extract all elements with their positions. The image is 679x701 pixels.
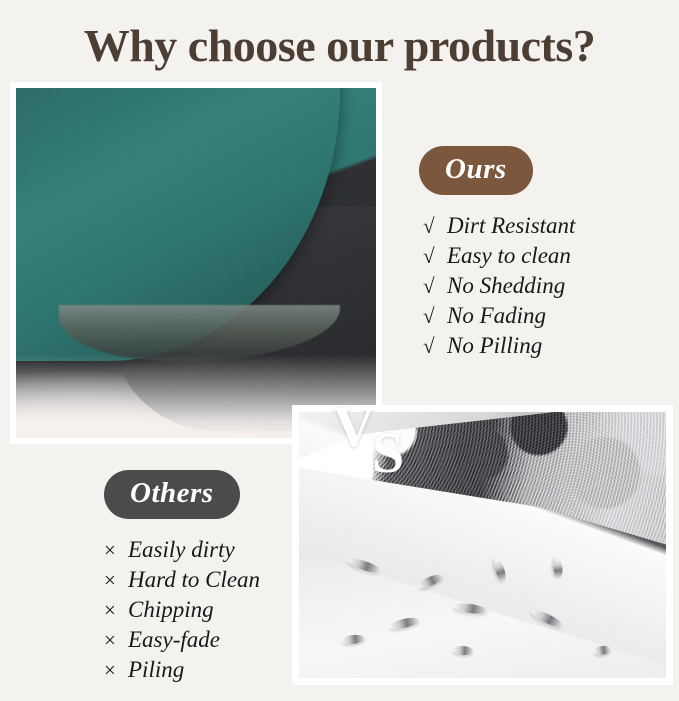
ours-feature-item-mark-icon: √ bbox=[423, 212, 447, 241]
shed-fiber bbox=[492, 558, 508, 583]
ours-feature-item-label: No Pilling bbox=[447, 331, 542, 360]
others-feature-item-mark-icon: × bbox=[104, 626, 128, 655]
ours-feature-item-label: No Shedding bbox=[447, 271, 565, 300]
page-title: Why choose our products? bbox=[0, 18, 679, 74]
ours-feature-item-mark-icon: √ bbox=[423, 302, 447, 331]
ours-feature-item: √Easy to clean bbox=[423, 241, 575, 271]
others-feature-item: ×Chipping bbox=[104, 595, 260, 625]
others-feature-item-label: Easily dirty bbox=[128, 535, 235, 564]
ours-feature-list: √Dirt Resistant√Easy to clean√No Sheddin… bbox=[423, 211, 575, 361]
ours-product-photo bbox=[16, 88, 376, 438]
white-floor-surface bbox=[299, 513, 666, 678]
ours-badge: Ours bbox=[419, 146, 533, 195]
others-badge: Others bbox=[104, 470, 240, 519]
versus-letter-v: V bbox=[333, 398, 375, 456]
others-feature-item: ×Piling bbox=[104, 655, 260, 685]
ours-feature-item: √Dirt Resistant bbox=[423, 211, 575, 241]
ours-feature-item-label: No Fading bbox=[447, 301, 546, 330]
others-feature-item: ×Easy-fade bbox=[104, 625, 260, 655]
others-feature-item-label: Easy-fade bbox=[128, 625, 220, 654]
ours-feature-item: √No Shedding bbox=[423, 271, 575, 301]
others-feature-item: ×Hard to Clean bbox=[104, 565, 260, 595]
shed-fiber bbox=[416, 572, 445, 591]
others-comparison-block: Others ×Easily dirty×Hard to Clean×Chipp… bbox=[104, 470, 260, 685]
mat-texture-overlay bbox=[16, 88, 376, 438]
versus-letter-s: S bbox=[372, 424, 404, 482]
others-feature-item-mark-icon: × bbox=[104, 656, 128, 685]
others-feature-item: ×Easily dirty bbox=[104, 535, 260, 565]
others-feature-item-label: Chipping bbox=[128, 595, 214, 624]
ours-feature-item-mark-icon: √ bbox=[423, 332, 447, 361]
ours-feature-item-mark-icon: √ bbox=[423, 242, 447, 271]
others-feature-item-mark-icon: × bbox=[104, 536, 128, 565]
others-feature-item-mark-icon: × bbox=[104, 596, 128, 625]
others-feature-item-label: Piling bbox=[128, 655, 184, 684]
shed-fiber bbox=[553, 558, 563, 579]
ours-comparison-block: Ours √Dirt Resistant√Easy to clean√No Sh… bbox=[419, 146, 575, 361]
others-feature-list: ×Easily dirty×Hard to Clean×Chipping×Eas… bbox=[104, 535, 260, 685]
others-feature-item-mark-icon: × bbox=[104, 566, 128, 595]
others-feature-item-label: Hard to Clean bbox=[128, 565, 260, 594]
ours-feature-item: √No Pilling bbox=[423, 331, 575, 361]
ours-feature-item-label: Dirt Resistant bbox=[447, 211, 575, 240]
ours-feature-item-mark-icon: √ bbox=[423, 272, 447, 301]
comparison-infographic: Why choose our products? V S Ours √Dirt … bbox=[0, 0, 679, 701]
ours-feature-item: √No Fading bbox=[423, 301, 575, 331]
ours-feature-item-label: Easy to clean bbox=[447, 241, 571, 270]
